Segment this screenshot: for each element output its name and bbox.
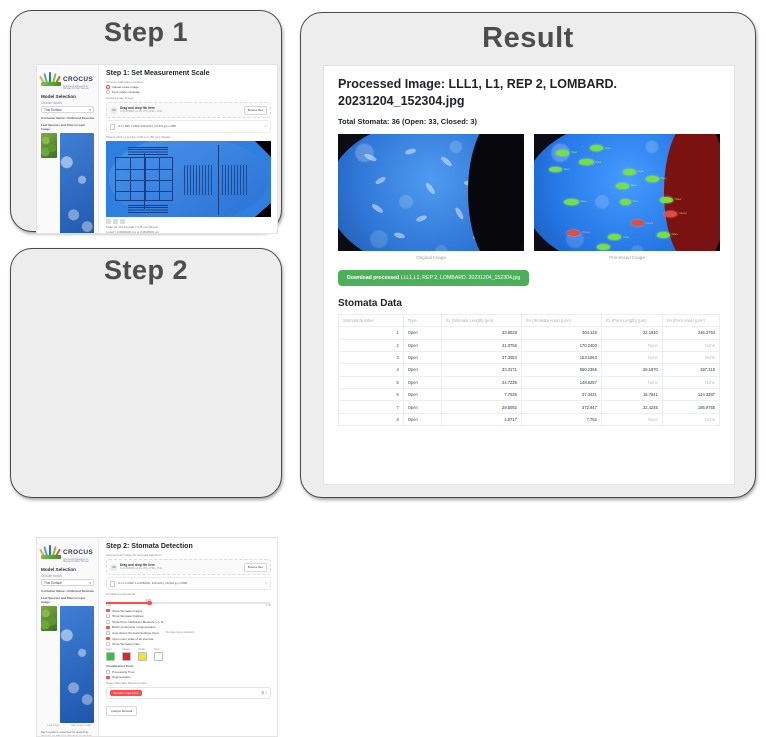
original-dark-rim (468, 134, 524, 251)
confidence-slider-min: 0.00 (106, 604, 111, 607)
cell-stomata-number: 6 (339, 389, 404, 401)
table-row: 6 Open 7.7036 27.3431 16.7841 144.3397 (339, 389, 720, 401)
cell-stomata-length: 33.3171 (441, 364, 521, 376)
species-section-label: Leaf Species and Microscopic Image (41, 596, 94, 604)
calibration-ruler-right (222, 165, 248, 195)
step1-pixel-result: 1 pixel = 0.00038135 mm or 0.38135161 µm (106, 231, 271, 233)
step2-panel: Step 2 CROCUS Community Research on Clim… (10, 248, 282, 498)
column-pore-length: PL (Pore Length) (µm) (601, 314, 662, 326)
microscope-thumbnail (60, 606, 94, 723)
image-toolbar[interactable] (106, 219, 271, 224)
checkbox-show-stomata-index-icon (106, 642, 110, 646)
checkbox-processing-time-label: Processing Time (112, 670, 134, 674)
checkbox-open-color-scale[interactable]: Open color scale of all stomata (106, 637, 271, 641)
cell-stomata-length: 4.5717 (441, 413, 521, 425)
cell-stomata-number: 8 (339, 413, 404, 425)
processed-image-caption: Processed Image (534, 255, 720, 260)
column-stomata-number: Stomata Number (339, 314, 404, 326)
step1-drop-sub: Limit 200MB per file JPG, JPEG, PNG (120, 110, 241, 113)
stomata-measurement-tagbar[interactable]: Stomata Length / Area 🗑 ▾ (106, 687, 271, 698)
crocus-logo: CROCUS Community Research on Climate & U… (41, 69, 94, 90)
crocus-logo-icon (41, 73, 61, 86)
swatch-partial-color[interactable] (138, 652, 147, 661)
cell-stomata-number: 1 (339, 327, 404, 339)
cell-type: Open (403, 339, 441, 351)
cell-stomata-area: 148.6287 (521, 376, 601, 388)
stomata-range-label: Stomata range standard: (166, 631, 195, 634)
original-image-column: Original Image (338, 134, 524, 260)
step2-file-dropzone[interactable]: Drag and drop file here Limit 200MB per … (106, 559, 271, 575)
radio-upload-scale-image-label: Upload scale image (112, 85, 139, 89)
cell-pore-area: 144.3397 (662, 389, 719, 401)
confidence-slider[interactable]: 0.25 0.00 1.00 (106, 599, 271, 607)
leaf-thumbnail-caption: Leaf Image (41, 724, 66, 727)
swatch-partial-label: Partial (138, 648, 147, 651)
upload-cloud-icon (110, 564, 117, 571)
download-button-prefix: Download processed (347, 275, 401, 281)
sidebar-thumbnails (41, 606, 94, 723)
step2-sidebar: CROCUS Community Research on Climate & U… (37, 538, 99, 736)
step2-browse-files-button[interactable]: Browse files (244, 563, 267, 572)
cell-pore-length: None (601, 376, 662, 388)
checkbox-show-stomata-outlines-label: Show Stomata Outlines (112, 614, 143, 618)
crocus-logo: CROCUS Community Research on Climate & U… (41, 542, 94, 563)
table-row: 4 Open 33.3171 550.2365 26.1870 287.315 (339, 364, 720, 376)
cell-type: Open (403, 376, 441, 388)
color-swatches: Open Closed Partial None (106, 648, 271, 661)
trash-tool-icon[interactable] (120, 219, 125, 224)
calibration-ruler-left (184, 165, 214, 195)
microscope-thumbnail (60, 133, 94, 234)
crocus-logo-name: CROCUS (63, 549, 93, 556)
cell-stomata-number: 5 (339, 376, 404, 388)
original-image-caption: Original Image (338, 255, 524, 260)
leaf-thumbnail (41, 133, 57, 158)
confidence-slider-track[interactable] (106, 602, 271, 604)
cell-stomata-number: 7 (339, 401, 404, 413)
step1-heading: Step 1: Set Measurement Scale (106, 70, 271, 77)
download-processed-button[interactable]: Download processed LLL1,L1, REP 2, LOMBA… (338, 270, 529, 286)
step1-instruction: Please click to set the 0.05 mm (50 µm) … (106, 135, 271, 139)
cell-stomata-area: 153.1063 (521, 351, 601, 363)
checkbox-show-pore-calibration-label: Show Pore Calibration Measure (+/- 0) (112, 620, 163, 624)
cell-stomata-area: 404.125 (521, 327, 601, 339)
step2-heading: Step 2: Stomata Detection (106, 543, 271, 550)
radio-input-scale-manually-label: Input scale manually (112, 90, 140, 94)
model-select-value: This Surface (44, 581, 62, 585)
confidence-threshold-label: Confidence threshold (106, 592, 271, 596)
crocus-logo-icon (41, 546, 61, 559)
choose-model-label: Choose model: (41, 574, 94, 578)
choose-model-label: Choose model: (41, 101, 94, 105)
table-row: 3 Open 37.3053 153.1063 None None (339, 351, 720, 363)
step1-browse-files-button[interactable]: Browse files (244, 106, 267, 115)
cell-stomata-area: 27.3431 (521, 389, 601, 401)
model-select[interactable]: This Surface ▾ (41, 579, 94, 586)
step1-upload-label: Upload scale image (106, 96, 271, 100)
step2-drop-sub: Limit 200MB per file JPG, JPEG, PNG (120, 567, 241, 570)
crocus-logo-name: CROCUS (63, 76, 93, 83)
measurement-tag[interactable]: Stomata Length / Area (110, 690, 142, 695)
analyze-stomata-button[interactable]: Analyze Stomata (106, 706, 137, 716)
table-row: 5 Open 24.7235 148.6287 None None (339, 376, 720, 388)
checkbox-auto-detect-settings[interactable]: Auto-detect Stomata Settings Open Stomat… (106, 631, 271, 635)
result-app-screenshot: Processed Image: LLL1, L1, REP 2, LOMBAR… (323, 65, 735, 485)
calibration-corner-top-right (255, 141, 271, 157)
cell-pore-length: 26.1870 (601, 364, 662, 376)
crocus-logo-tagline: Community Research on Climate & Urban Sc… (63, 86, 94, 91)
cell-pore-area: None (662, 376, 719, 388)
visualization-tools-heading: Visualization Tools (106, 664, 271, 668)
stomata-data-heading: Stomata Data (338, 298, 720, 309)
calibration-marker-line-2 (218, 145, 219, 215)
processed-image-column: Open Open Open Open Open Open Open Open … (534, 134, 720, 260)
table-row: 8 Open 4.5717 7.752 None None (339, 413, 720, 425)
swatch-closed-label: Closed (122, 648, 131, 651)
table-header-row: Stomata Number Type SL (Stomata Length) … (339, 314, 720, 326)
swatch-partial[interactable]: Partial (138, 648, 147, 661)
result-panel-title: Result (301, 13, 755, 53)
cell-stomata-number: 4 (339, 364, 404, 376)
result-panel: Result Processed Image: LLL1, L1, REP 2,… (300, 12, 756, 498)
column-stomata-area: SA (Stomata Area) (µm²) (521, 314, 601, 326)
cell-pore-area: None (662, 339, 719, 351)
swatch-none[interactable]: None (154, 648, 163, 661)
cell-type: Open (403, 364, 441, 376)
step1-file-name: LLL1 REP 2 GRID 20231204_151934.jpg 4.1M… (118, 125, 262, 128)
confidence-slider-handle[interactable] (147, 601, 151, 605)
download-button-filename: LLL1,L1, REP 2, LOMBARD. 20231204_152304… (401, 275, 521, 281)
swatch-open[interactable]: Open (106, 648, 115, 661)
cell-type: Open (403, 413, 441, 425)
zoom-tool-icon[interactable] (106, 219, 111, 224)
cell-type: Open (403, 351, 441, 363)
checkbox-show-stomata-index[interactable]: Show Stomata Index (106, 642, 271, 646)
table-row: 7 Open 28.5092 372.947 22.4245 186.9755 (339, 401, 720, 413)
pan-tool-icon[interactable] (113, 219, 118, 224)
cell-pore-length: None (601, 351, 662, 363)
swatch-none-label: None (154, 648, 163, 651)
column-stomata-length: SL (Stomata Length) (µm) (441, 314, 521, 326)
clear-tag-icon[interactable]: 🗑 ▾ (261, 691, 267, 695)
checkbox-show-stomata-images-icon (106, 609, 110, 613)
checkbox-show-pore-calibration[interactable]: Show Pore Calibration Measure (+/- 0) (106, 620, 271, 624)
checkbox-batch-processing-icon (106, 626, 110, 630)
cell-stomata-length: 41.0756 (441, 339, 521, 351)
cell-type: Open (403, 401, 441, 413)
checkbox-show-stomata-images-label: Show Stomata Images (112, 609, 142, 613)
leaf-thumbnail (41, 606, 57, 631)
model-selection-heading: Model Selection (41, 567, 94, 572)
total-stomata-summary: Total Stomata: 36 (Open: 33, Closed: 3) (338, 117, 720, 126)
cell-stomata-number: 3 (339, 351, 404, 363)
confidence-slider-fill (106, 602, 147, 604)
processed-image-title: Processed Image: LLL1, L1, REP 2, LOMBAR… (338, 76, 720, 110)
checkbox-batch-processing[interactable]: Batch processing / segmentation (106, 625, 271, 629)
stomata-data-table: Stomata Number Type SL (Stomata Length) … (338, 314, 720, 426)
upload-cloud-icon (110, 107, 117, 114)
thumbnail-captions: Leaf Image Microscopic Image (41, 723, 94, 727)
radio-upload-scale-image-icon (106, 85, 110, 89)
step1-panel: Step 1 CROCUS Community Research on Clim… (10, 10, 282, 232)
chevron-down-icon: ▾ (89, 581, 91, 585)
dataset-note: Container Name: Unificand Stomata (41, 589, 94, 593)
swatch-open-color[interactable] (106, 652, 115, 661)
checkbox-open-color-scale-icon (106, 637, 110, 641)
step2-app-screenshot: CROCUS Community Research on Climate & U… (36, 537, 278, 737)
remove-file-icon[interactable]: × (265, 582, 267, 586)
checkbox-show-stomata-outlines[interactable]: Show Stomata Outlines (106, 614, 271, 618)
step1-main: Step 1: Set Measurement Scale Choose cal… (99, 65, 277, 233)
calibration-hatch-top (128, 147, 168, 155)
cell-type: Open (403, 327, 441, 339)
column-type: Type (403, 314, 441, 326)
checkbox-processing-time-icon (106, 670, 110, 674)
checkbox-show-stomata-outlines-icon (106, 614, 110, 618)
cell-stomata-area: 372.947 (521, 401, 601, 413)
step2-panel-title: Step 2 (11, 249, 281, 284)
cell-stomata-area: 550.2365 (521, 364, 601, 376)
table-row: 1 Open 23.9029 404.125 22.1910 246.3764 (339, 327, 720, 339)
cell-stomata-area: 170.2403 (521, 339, 601, 351)
cell-stomata-length: 7.7036 (441, 389, 521, 401)
cell-pore-length: None (601, 339, 662, 351)
cell-pore-area: 186.9755 (662, 401, 719, 413)
file-icon (110, 124, 115, 130)
column-pore-area: PA (Pore Area) (µm²) (662, 314, 719, 326)
checkbox-show-stomata-images[interactable]: Show Stomata Images (106, 609, 271, 613)
step1-uploaded-file-row: LLL1 REP 2 GRID 20231204_151934.jpg 4.1M… (106, 120, 271, 133)
cell-pore-length: 16.7841 (601, 389, 662, 401)
cell-pore-area: 287.315 (662, 364, 719, 376)
checkbox-segmentation[interactable]: Segmentation (106, 675, 271, 679)
dataset-note: Container Name: Unificand Stomata (41, 116, 94, 120)
cell-pore-area: None (662, 413, 719, 425)
checkbox-processing-time[interactable]: Processing Time (106, 670, 271, 674)
sidebar-thumbnails (41, 133, 94, 234)
checkbox-auto-detect-settings-icon (106, 631, 110, 635)
processed-micrograph: Open Open Open Open Open Open Open Open … (534, 134, 720, 251)
cell-pore-length: 22.1910 (601, 327, 662, 339)
checkbox-segmentation-label: Segmentation (112, 675, 131, 679)
step2-main: Step 2: Stomata Detection Choose leaf im… (99, 538, 277, 736)
cell-stomata-area: 7.752 (521, 413, 601, 425)
model-selection-heading: Model Selection (41, 94, 94, 99)
cell-type: Open (403, 389, 441, 401)
checkbox-show-pore-calibration-icon (106, 620, 110, 624)
result-images: Original Image Open Open Open Open Open … (338, 134, 720, 260)
step1-panel-title: Step 1 (11, 11, 281, 46)
chevron-down-icon: ▾ (89, 108, 91, 112)
step2-uploaded-file-row: LLL1,L1,REP 2,LOMBARD. 20231204_152304.j… (106, 577, 271, 590)
stomata-measurement-label: Select Stomata Measurement (106, 681, 271, 685)
checkbox-segmentation-icon (106, 676, 110, 680)
swatch-closed[interactable]: Closed (122, 648, 131, 661)
step1-app-screenshot: CROCUS Community Research on Climate & U… (36, 64, 278, 234)
file-icon (110, 581, 115, 587)
calibration-image[interactable] (106, 141, 271, 217)
step2-file-name: LLL1,L1,REP 2,LOMBARD. 20231204_152304.j… (118, 582, 262, 585)
swatch-open-label: Open (106, 648, 115, 651)
checkbox-batch-processing-label: Batch processing / segmentation (112, 625, 156, 629)
table-row: 2 Open 41.0756 170.2403 None None (339, 339, 720, 351)
cell-stomata-length: 37.3053 (441, 351, 521, 363)
sidebar-description: Each model is optimized for analyzing st… (41, 730, 94, 737)
step1-sidebar: CROCUS Community Research on Climate & U… (37, 65, 99, 233)
original-micrograph (338, 134, 524, 251)
calibration-method-label: Choose calibration method: (106, 80, 271, 84)
cell-pore-length: 22.4245 (601, 401, 662, 413)
cell-stomata-number: 2 (339, 339, 404, 351)
calibration-corner-bottom-right (255, 203, 271, 217)
species-section-label: Leaf Species and Microscopic Image (41, 123, 94, 131)
remove-file-icon[interactable]: × (265, 125, 267, 129)
crocus-logo-tagline: Community Research on Climate & Urban Sc… (63, 559, 94, 564)
confidence-slider-max: 1.00 (266, 604, 271, 607)
model-select[interactable]: This Surface ▾ (41, 106, 94, 113)
cell-pore-area: 246.3764 (662, 327, 719, 339)
swatch-closed-color[interactable] (122, 652, 131, 661)
radio-upload-scale-image[interactable]: Upload scale image (106, 85, 271, 89)
step1-file-dropzone[interactable]: Drag and drop file here Limit 200MB per … (106, 102, 271, 118)
checkbox-show-stomata-index-label: Show Stomata Index (112, 642, 140, 646)
step1-scale-result: Scale set: 131.13 pixels = 0.05 mm (50 µ… (106, 226, 271, 229)
calibration-marker-line-1 (144, 153, 145, 209)
cell-stomata-length: 24.7235 (441, 376, 521, 388)
microscope-thumbnail-caption: Microscopic Image (69, 724, 94, 727)
checkbox-open-color-scale-label: Open color scale of all stomata (112, 637, 153, 641)
checkbox-auto-detect-settings-label: Auto-detect Stomata Settings Open (112, 631, 159, 635)
cell-stomata-length: 23.9029 (441, 327, 521, 339)
swatch-none-color[interactable] (154, 652, 163, 661)
calibration-hatch-bottom (128, 205, 168, 213)
radio-input-scale-manually[interactable]: Input scale manually (106, 90, 271, 94)
cell-pore-area: None (662, 351, 719, 363)
radio-input-scale-manually-icon (106, 90, 110, 94)
cell-pore-length: None (601, 413, 662, 425)
cell-stomata-length: 28.5092 (441, 401, 521, 413)
model-select-value: This Surface (44, 108, 62, 112)
step2-upload-label: Choose leaf image for stomata detection (106, 553, 271, 557)
